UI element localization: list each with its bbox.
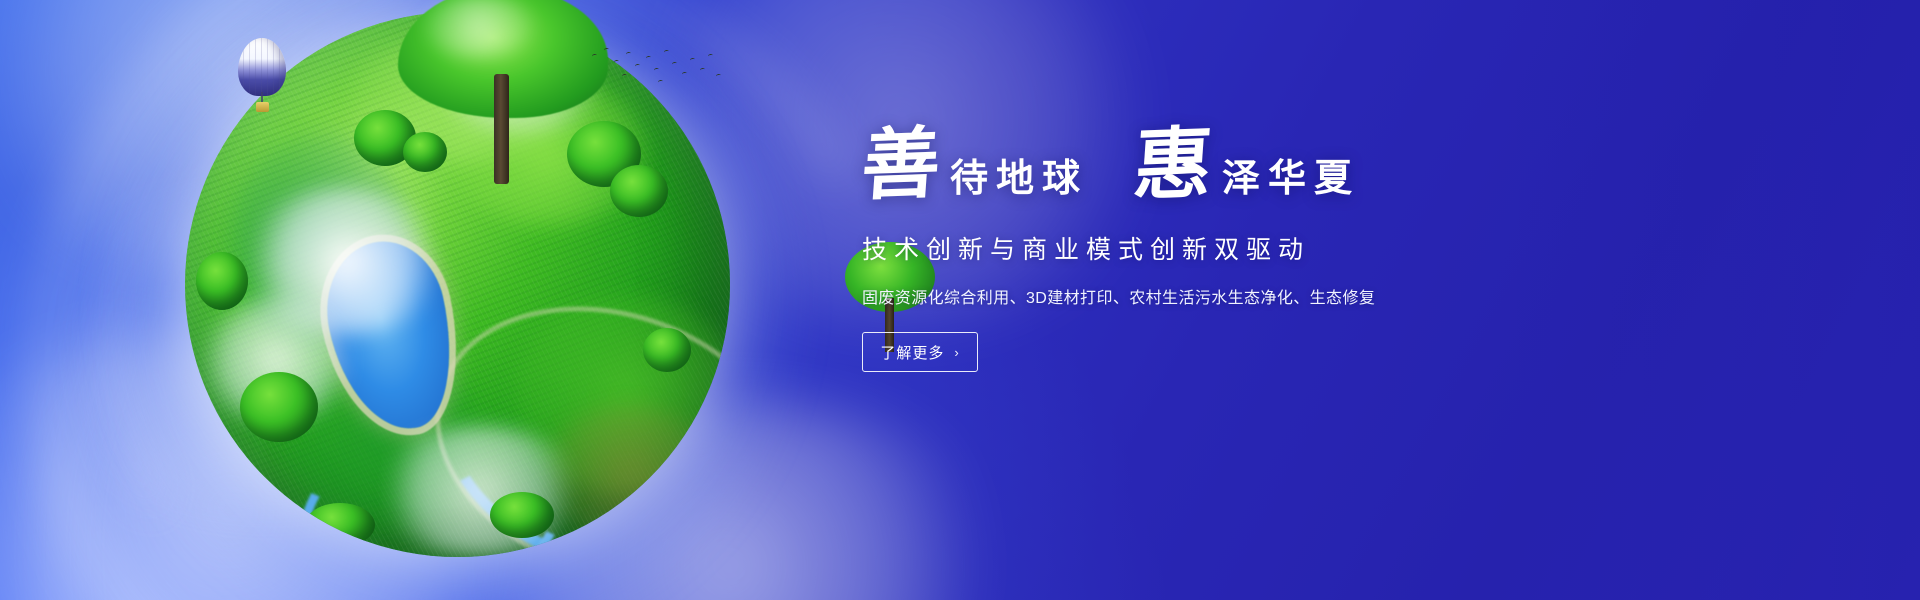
tree-trunk xyxy=(494,74,509,184)
headline-rest-2: 泽华夏 xyxy=(1218,160,1360,204)
bird-icon xyxy=(658,80,664,85)
bird-icon xyxy=(700,68,706,73)
balloon-gores xyxy=(238,38,286,96)
bird-icon xyxy=(708,54,714,59)
bird-icon xyxy=(614,60,620,65)
bird-icon xyxy=(604,48,610,53)
hero-copy: 善 待地球 惠 泽华夏 技术创新与商业模式创新双驱动 固废资源化综合利用、3D建… xyxy=(862,126,1422,372)
tree-icon xyxy=(240,372,318,442)
bird-icon xyxy=(654,68,660,73)
bird-icon xyxy=(626,52,632,57)
hero-banner: 善 待地球 惠 泽华夏 技术创新与商业模式创新双驱动 固废资源化综合利用、3D建… xyxy=(0,0,1920,600)
subheadline: 技术创新与商业模式创新双驱动 xyxy=(862,230,1422,266)
bird-icon xyxy=(635,64,641,69)
balloon-basket xyxy=(256,102,269,112)
bird-icon xyxy=(592,54,598,59)
headline-accent-char-2: 惠 xyxy=(1131,125,1221,206)
bird-icon xyxy=(716,74,722,79)
learn-more-button[interactable]: 了解更多 › xyxy=(862,332,978,372)
headline-accent-char-1: 善 xyxy=(859,125,949,206)
description-text: 固废资源化综合利用、3D建材打印、农村生活污水生态净化、生态修复 xyxy=(862,284,1422,308)
bird-icon xyxy=(622,74,628,79)
chevron-right-icon: › xyxy=(954,345,959,360)
hot-air-balloon-icon xyxy=(238,38,286,120)
tree-icon xyxy=(305,503,375,547)
tree-icon xyxy=(196,252,248,310)
right-vignette xyxy=(1500,0,1920,600)
bird-icon xyxy=(690,58,696,63)
tree-icon xyxy=(490,492,554,538)
bird-icon xyxy=(672,62,678,67)
tree-icon xyxy=(610,165,668,217)
page-title: 善 待地球 惠 泽华夏 xyxy=(862,126,1422,204)
headline-rest-1: 待地球 xyxy=(946,160,1088,204)
balloon-envelope xyxy=(238,38,286,96)
cloud-icon xyxy=(370,426,590,556)
bird-icon xyxy=(682,72,688,77)
bird-icon xyxy=(664,50,670,55)
learn-more-label: 了解更多 xyxy=(880,342,944,363)
bird-flock-icon xyxy=(588,44,728,90)
bird-icon xyxy=(646,56,652,61)
tree-icon xyxy=(398,0,608,178)
tree-icon xyxy=(643,328,691,372)
